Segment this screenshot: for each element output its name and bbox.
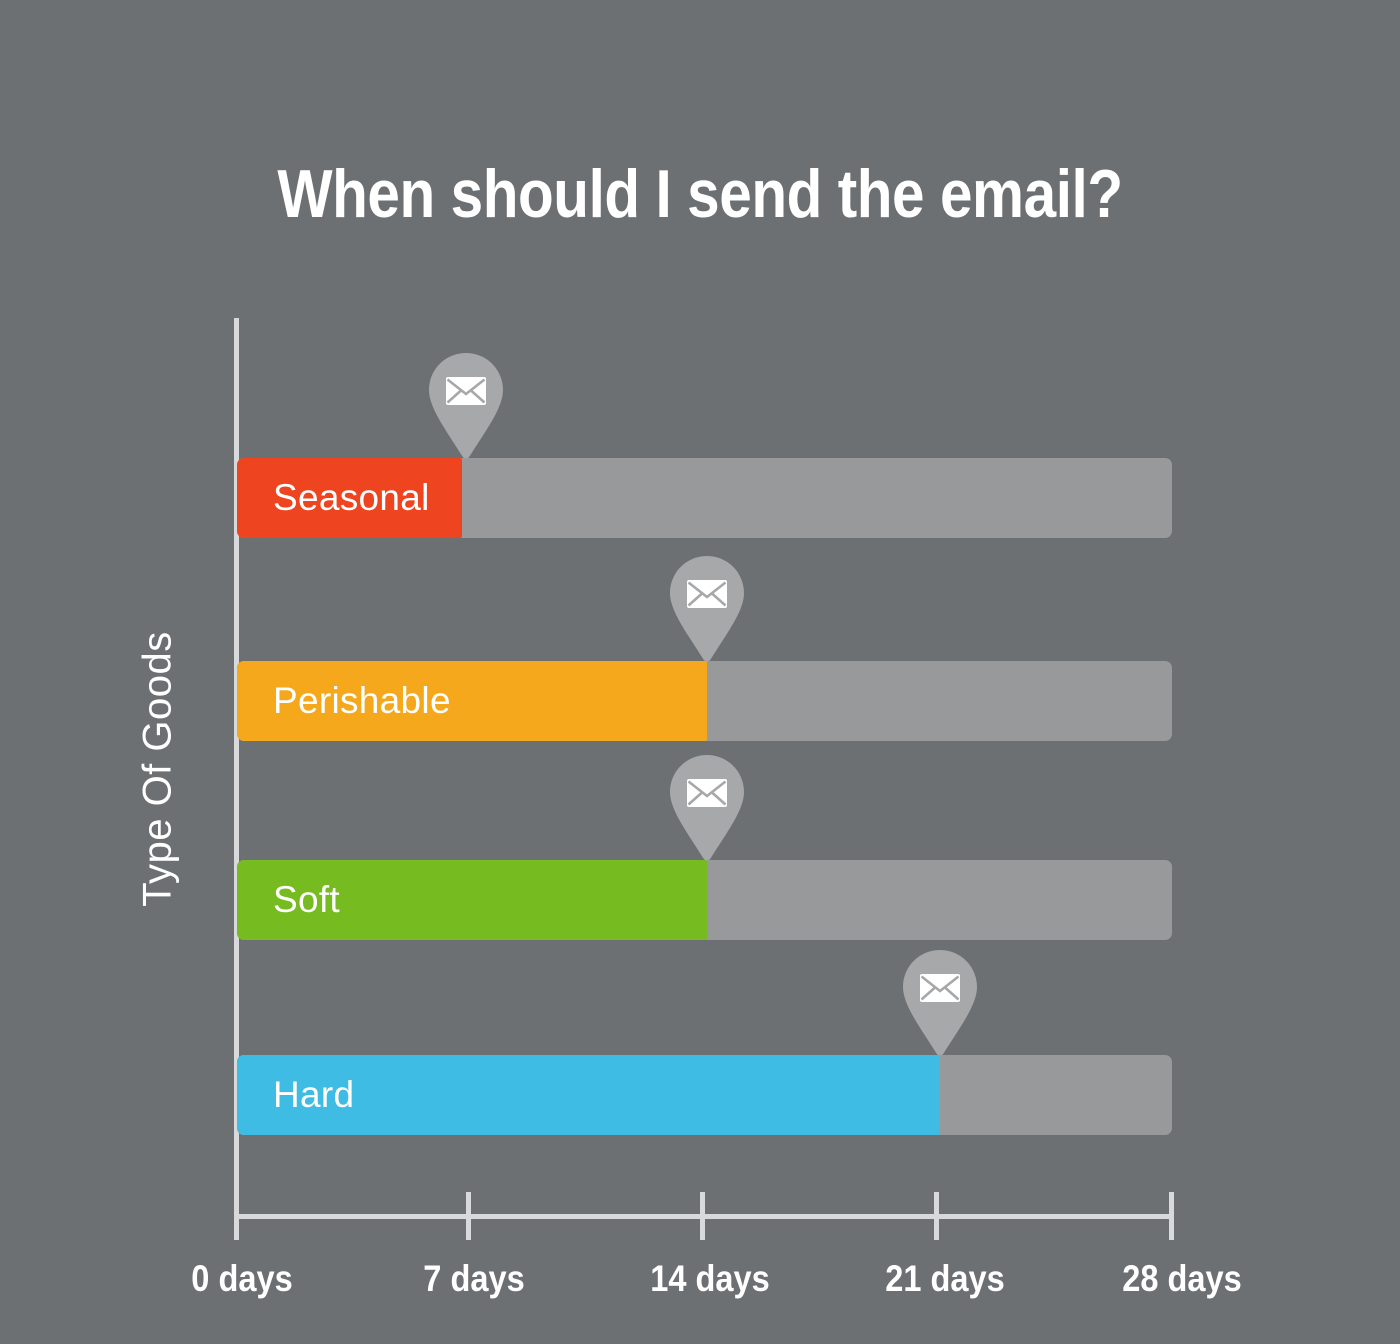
- x-tick-label-7: 7 days: [386, 1258, 562, 1300]
- y-axis-label-wrapper: Type Of Goods: [118, 604, 198, 934]
- x-tick-label-21: 21 days: [857, 1258, 1033, 1300]
- envelope-pin-icon: [898, 947, 982, 1059]
- bar-row-perishable[interactable]: Perishable: [237, 661, 1172, 741]
- envelope-pin-icon: [665, 752, 749, 864]
- bar-row-seasonal[interactable]: Seasonal: [237, 458, 1172, 538]
- bar-row-soft[interactable]: Soft: [237, 860, 1172, 940]
- bar-label-seasonal: Seasonal: [273, 477, 430, 519]
- chart-canvas: When should I send the email? Type Of Go…: [0, 0, 1400, 1344]
- x-tick-label-14: 14 days: [622, 1258, 798, 1300]
- x-axis-tick-7: [466, 1192, 471, 1240]
- x-tick-label-0: 0 days: [154, 1258, 330, 1300]
- x-axis-tick-0: [234, 1192, 239, 1240]
- page-title: When should I send the email?: [98, 160, 1302, 228]
- x-axis-tick-14: [700, 1192, 705, 1240]
- envelope-pin-icon: [424, 350, 508, 462]
- x-tick-label-28: 28 days: [1094, 1258, 1270, 1300]
- x-axis-tick-28: [1169, 1192, 1174, 1240]
- envelope-pin-icon: [665, 553, 749, 665]
- bar-label-soft: Soft: [273, 879, 340, 921]
- x-axis-tick-21: [934, 1192, 939, 1240]
- bar-label-hard: Hard: [273, 1074, 354, 1116]
- y-axis-label: Type Of Goods: [136, 631, 181, 907]
- bar-row-hard[interactable]: Hard: [237, 1055, 1172, 1135]
- bar-label-perishable: Perishable: [273, 680, 451, 722]
